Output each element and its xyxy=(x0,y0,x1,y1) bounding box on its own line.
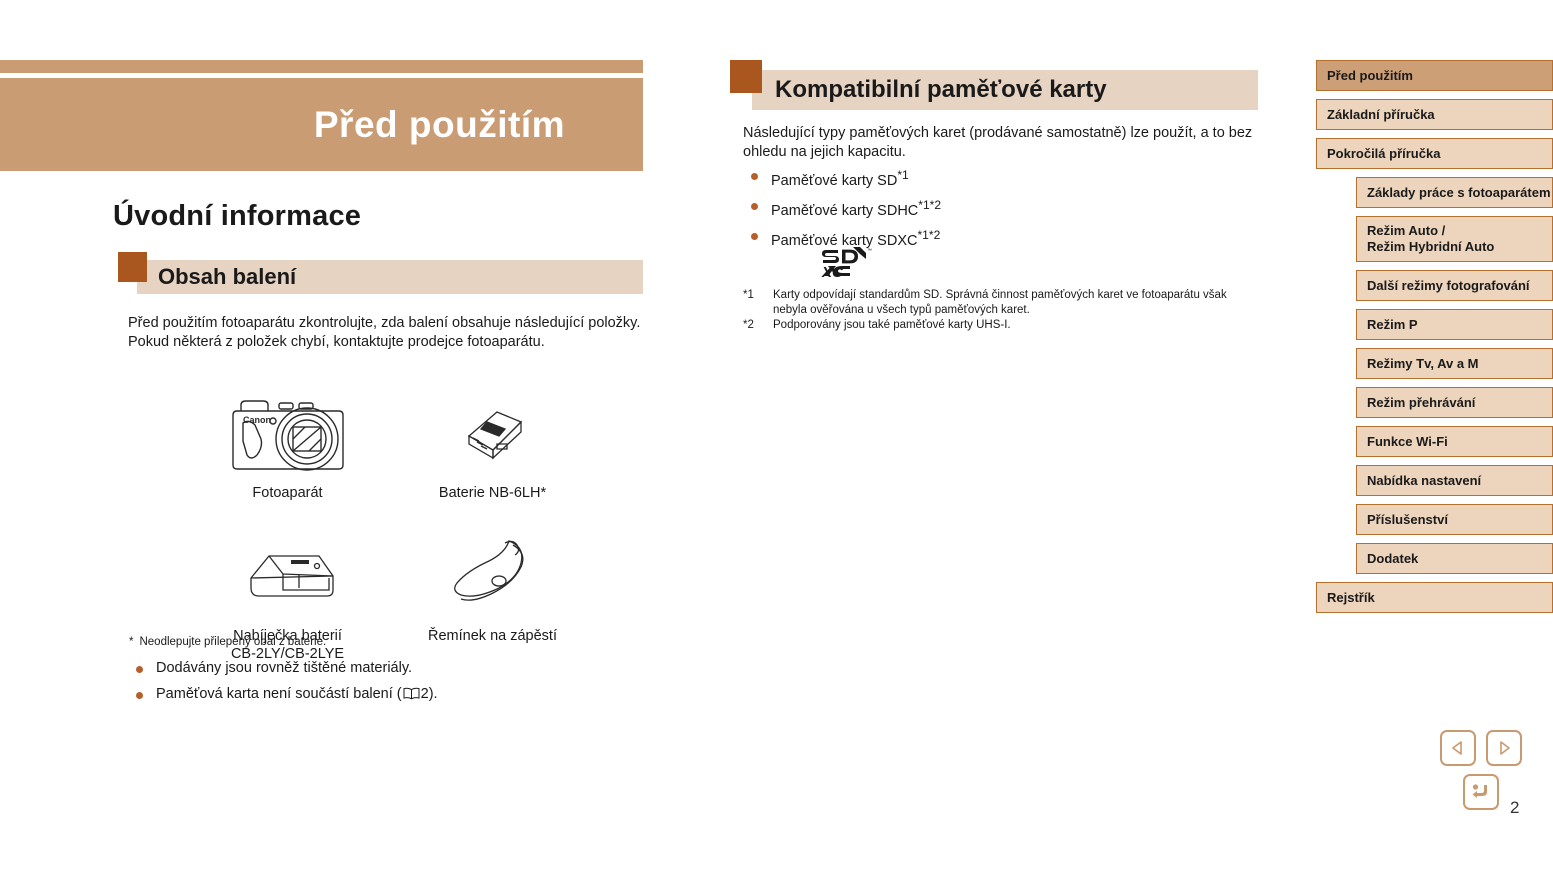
list-item-footnote-ref: *1*2 xyxy=(918,198,941,212)
sidebar-item-label: Režim P xyxy=(1367,317,1418,333)
list-item-footnote-ref: *1*2 xyxy=(917,228,940,242)
subsection-heading-label: Obsah balení xyxy=(158,264,296,290)
return-home-icon[interactable] xyxy=(1463,774,1499,810)
heading-marker-square xyxy=(730,60,762,93)
list-item-label: Paměťové karty SD xyxy=(771,173,897,189)
memory-card-types-list: Paměťové karty SD*1 Paměťové karty SDHC*… xyxy=(743,166,941,255)
product-row: Canon Fotoaparát Baterie NB-6LH xyxy=(185,385,605,502)
product-cell-camera: Canon Fotoaparát xyxy=(185,385,390,502)
product-caption: Baterie NB-6LH* xyxy=(390,484,595,502)
list-item-label-after: 2). xyxy=(421,686,438,702)
sidebar-item-rezimy-tv-av-m[interactable]: Režimy Tv, Av a M xyxy=(1356,348,1553,379)
page-number: 2 xyxy=(1510,798,1519,818)
left-column: Před použitím Úvodní informace Obsah bal… xyxy=(0,0,660,874)
sidebar-item-label: Základní příručka xyxy=(1327,107,1435,123)
sidebar-item-label: Dodatek xyxy=(1367,551,1418,567)
bullet-dot-icon xyxy=(751,203,758,210)
chapter-banner: Před použitím xyxy=(0,78,643,171)
sidebar-item-funkce-wifi[interactable]: Funkce Wi-Fi xyxy=(1356,426,1553,457)
svg-text:Canon: Canon xyxy=(243,415,271,425)
battery-charger-icon xyxy=(185,528,390,623)
sidebar-item-dalsi-rezimy[interactable]: Další režimy fotografování xyxy=(1356,270,1553,301)
chapter-top-rule xyxy=(0,60,643,73)
sidebar-item-rejstrik[interactable]: Rejstřík xyxy=(1316,582,1553,613)
sidebar-item-label: Další režimy fotografování xyxy=(1367,278,1530,294)
sidebar-item-label: Režimy Tv, Av a M xyxy=(1367,356,1479,372)
sidebar-item-label: Před použitím xyxy=(1327,68,1413,84)
camera-icon: Canon xyxy=(185,385,390,480)
footnote-row: *1 Karty odpovídají standardům SD. Správ… xyxy=(743,288,1263,318)
sidebar-item-nabidka-nastaveni[interactable]: Nabídka nastavení xyxy=(1356,465,1553,496)
product-cell-battery: Baterie NB-6LH* xyxy=(390,385,595,502)
subsection-heading-pametove-karty: Kompatibilní paměťové karty xyxy=(752,70,1258,110)
sidebar-item-label: Funkce Wi-Fi xyxy=(1367,434,1448,450)
subsection-heading-label: Kompatibilní paměťové karty xyxy=(775,76,1107,104)
sdxc-logo: ™ XC xyxy=(820,246,875,278)
product-caption: Řemínek na zápěstí xyxy=(390,627,595,645)
product-caption: Fotoaparát xyxy=(185,484,390,502)
bullet-dot-icon xyxy=(751,173,758,180)
footnote-row: *2 Podporovány jsou také paměťové karty … xyxy=(743,318,1263,333)
sidebar-item-pred-pouzitim[interactable]: Před použitím xyxy=(1316,60,1553,91)
sidebar-item-pokrocila-prirucka[interactable]: Pokročilá příručka xyxy=(1316,138,1553,169)
footnote-key: *2 xyxy=(743,318,773,333)
chapter-navigation-sidebar: Před použitím Základní příručka Pokročil… xyxy=(1316,60,1553,621)
list-item-label: Paměťové karty SDHC xyxy=(771,203,918,219)
chapter-title: Před použitím xyxy=(314,104,565,146)
bullet-dot-icon xyxy=(751,233,758,240)
list-item-label: Dodávány jsou rovněž tištěné materiály. xyxy=(156,660,412,676)
list-item: Paměťová karta není součástí balení (2). xyxy=(128,685,438,704)
sidebar-item-label: Příslušenství xyxy=(1367,512,1448,528)
list-item: Paměťové karty SDHC*1*2 xyxy=(743,196,941,221)
footnote-key: *1 xyxy=(743,288,773,318)
sidebar-item-label: Rejstřík xyxy=(1327,590,1375,606)
prev-page-icon[interactable] xyxy=(1440,730,1476,766)
sidebar-item-zaklady-prace[interactable]: Základy práce s fotoaparátem xyxy=(1356,177,1553,208)
section-heading: Úvodní informace xyxy=(113,200,361,233)
sidebar-item-rezim-prehravani[interactable]: Režim přehrávání xyxy=(1356,387,1553,418)
sidebar-item-rezim-p[interactable]: Režim P xyxy=(1356,309,1553,340)
battery-footnote: *Neodlepujte přilepený obal z baterie. xyxy=(129,636,326,648)
sidebar-item-label: Režim přehrávání xyxy=(1367,395,1475,411)
svg-text:™: ™ xyxy=(867,248,872,254)
battery-icon xyxy=(390,385,595,480)
heading-marker-square xyxy=(118,252,147,282)
bullet-dot-icon xyxy=(136,666,143,673)
left-bullet-list: Dodávány jsou rovněž tištěné materiály. … xyxy=(128,659,438,711)
footnote-value: Karty odpovídají standardům SD. Správná … xyxy=(773,288,1263,318)
memory-card-footnotes: *1 Karty odpovídají standardům SD. Správ… xyxy=(743,288,1263,333)
footnote-value: Podporovány jsou také paměťové karty UHS… xyxy=(773,318,1263,333)
list-item: Paměťové karty SD*1 xyxy=(743,166,941,191)
book-icon xyxy=(403,687,420,700)
bullet-dot-icon xyxy=(136,692,143,699)
list-item-footnote-ref: *1 xyxy=(897,168,908,182)
product-cell-strap: Řemínek na zápěstí xyxy=(390,528,595,663)
sidebar-item-label: Pokročilá příručka xyxy=(1327,146,1440,162)
next-page-icon[interactable] xyxy=(1486,730,1522,766)
footnote-text: Neodlepujte přilepený obal z baterie. xyxy=(139,636,326,648)
sidebar-item-prislusenstvi[interactable]: Příslušenství xyxy=(1356,504,1553,535)
sidebar-item-label: Režim Auto / Režim Hybridní Auto xyxy=(1367,223,1494,255)
wrist-strap-icon xyxy=(390,528,595,623)
sidebar-item-label: Základy práce s fotoaparátem xyxy=(1367,185,1551,201)
sidebar-item-label: Nabídka nastavení xyxy=(1367,473,1481,489)
package-contents-grid: Canon Fotoaparát Baterie NB-6LH xyxy=(185,385,605,663)
subsection-heading-obsah-baleni: Obsah balení xyxy=(137,260,643,294)
list-item-label-before: Paměťová karta není součástí balení ( xyxy=(156,686,402,702)
list-item: Dodávány jsou rovněž tištěné materiály. xyxy=(128,659,438,678)
svg-text:XC: XC xyxy=(821,264,844,278)
sidebar-item-rezim-auto[interactable]: Režim Auto / Režim Hybridní Auto xyxy=(1356,216,1553,262)
memory-cards-intro: Následující typy paměťových karet (prodá… xyxy=(743,124,1253,162)
sidebar-item-dodatek[interactable]: Dodatek xyxy=(1356,543,1553,574)
sidebar-item-zakladni-prirucka[interactable]: Základní příručka xyxy=(1316,99,1553,130)
intro-paragraph: Před použitím fotoaparátu zkontrolujte, … xyxy=(128,314,648,352)
footnote-marker: * xyxy=(129,636,133,648)
